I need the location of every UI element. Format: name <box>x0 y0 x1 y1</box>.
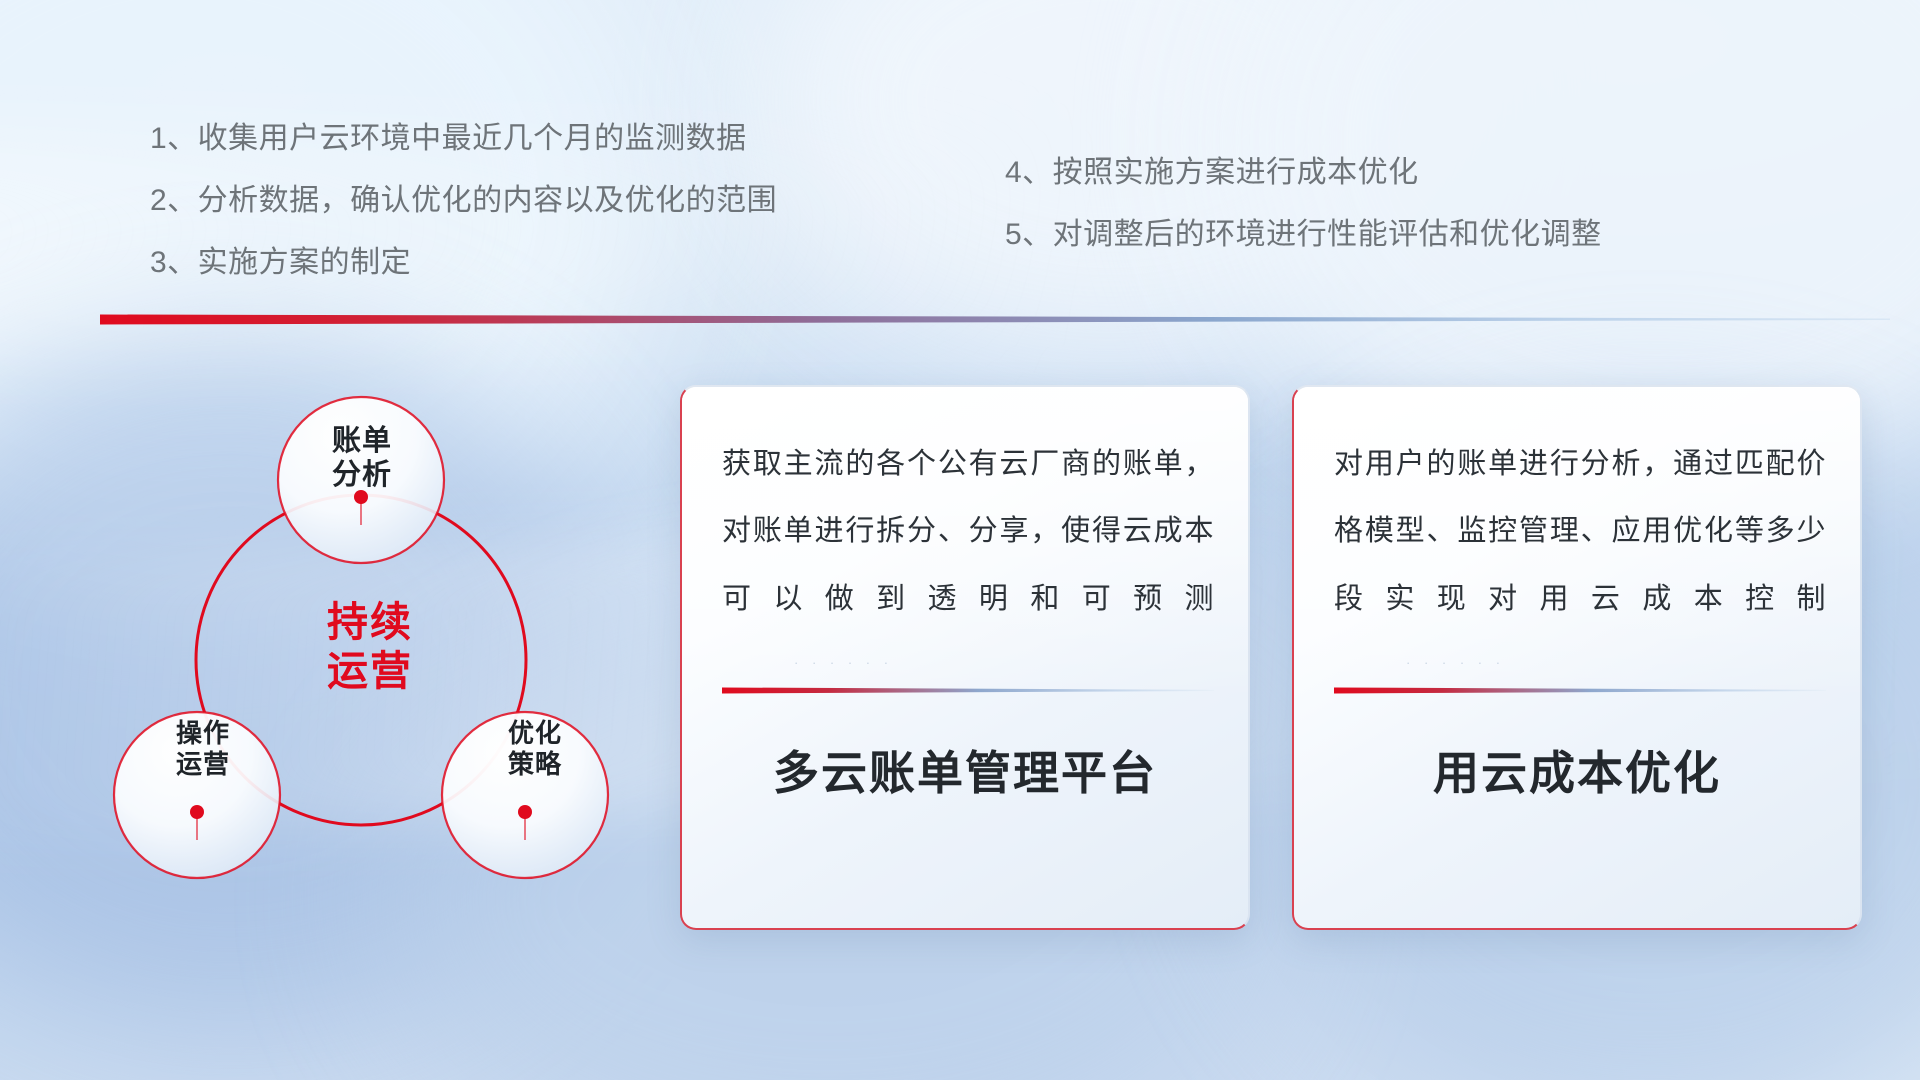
step-item-3: 3、实施方案的制定 <box>150 248 411 278</box>
step-item-2: 2、分析数据，确认优化的内容以及优化的范围 <box>150 186 777 216</box>
venn-label-strategy-line2: 策略 <box>450 749 620 780</box>
venn-label-center-line2: 运营 <box>290 647 450 696</box>
step-item-5: 5、对调整后的环境进行性能评估和优化调整 <box>1005 220 1602 250</box>
step-item-1: 1、收集用户云环境中最近几个月的监测数据 <box>150 124 747 154</box>
card-2-rule <box>1334 687 1826 694</box>
venn-dot-right <box>518 805 532 819</box>
venn-label-bill-analysis-line2: 分析 <box>272 458 452 492</box>
card-1-body: 获取主流的各个公有云厂商的账单，对账单进行拆分、分享，使得云成本可以做到透明和可… <box>722 431 1214 633</box>
card-cloud-cost-optimization[interactable]: 对用户的账单进行分析，通过匹配价格模型、监控管理、应用优化等多少段实现对用云成本… <box>1292 385 1862 930</box>
venn-label-bill-analysis-line1: 账单 <box>272 424 452 458</box>
card-1-rule <box>722 687 1214 694</box>
venn-label-operation-line2: 运营 <box>118 749 288 780</box>
venn-label-strategy-line1: 优化 <box>450 718 620 749</box>
steps-section: 1、收集用户云环境中最近几个月的监测数据 2、分析数据，确认优化的内容以及优化的… <box>0 0 1920 300</box>
card-multi-cloud-billing-platform[interactable]: 获取主流的各个公有云厂商的账单，对账单进行拆分、分享，使得云成本可以做到透明和可… <box>680 385 1250 930</box>
venn-diagram: 账单 分析 操作 运营 优化 策略 持续 运营 <box>80 340 640 960</box>
venn-label-operation-line1: 操作 <box>118 718 288 749</box>
venn-label-center: 持续 运营 <box>290 598 450 696</box>
section-divider <box>100 312 1890 326</box>
step-item-4: 4、按照实施方案进行成本优化 <box>1005 158 1419 188</box>
venn-label-strategy: 优化 策略 <box>450 718 620 779</box>
card-2-dots: · · · · · · <box>1406 655 1505 670</box>
venn-label-center-line1: 持续 <box>290 598 450 647</box>
card-1-title: 多云账单管理平台 <box>682 737 1248 803</box>
venn-dot-left <box>190 805 204 819</box>
card-1-dots: · · · · · · <box>794 655 893 670</box>
venn-label-bill-analysis: 账单 分析 <box>272 424 452 492</box>
card-2-body: 对用户的账单进行分析，通过匹配价格模型、监控管理、应用优化等多少段实现对用云成本… <box>1334 431 1826 633</box>
venn-label-operation: 操作 运营 <box>118 718 288 779</box>
card-2-title: 用云成本优化 <box>1294 737 1860 803</box>
